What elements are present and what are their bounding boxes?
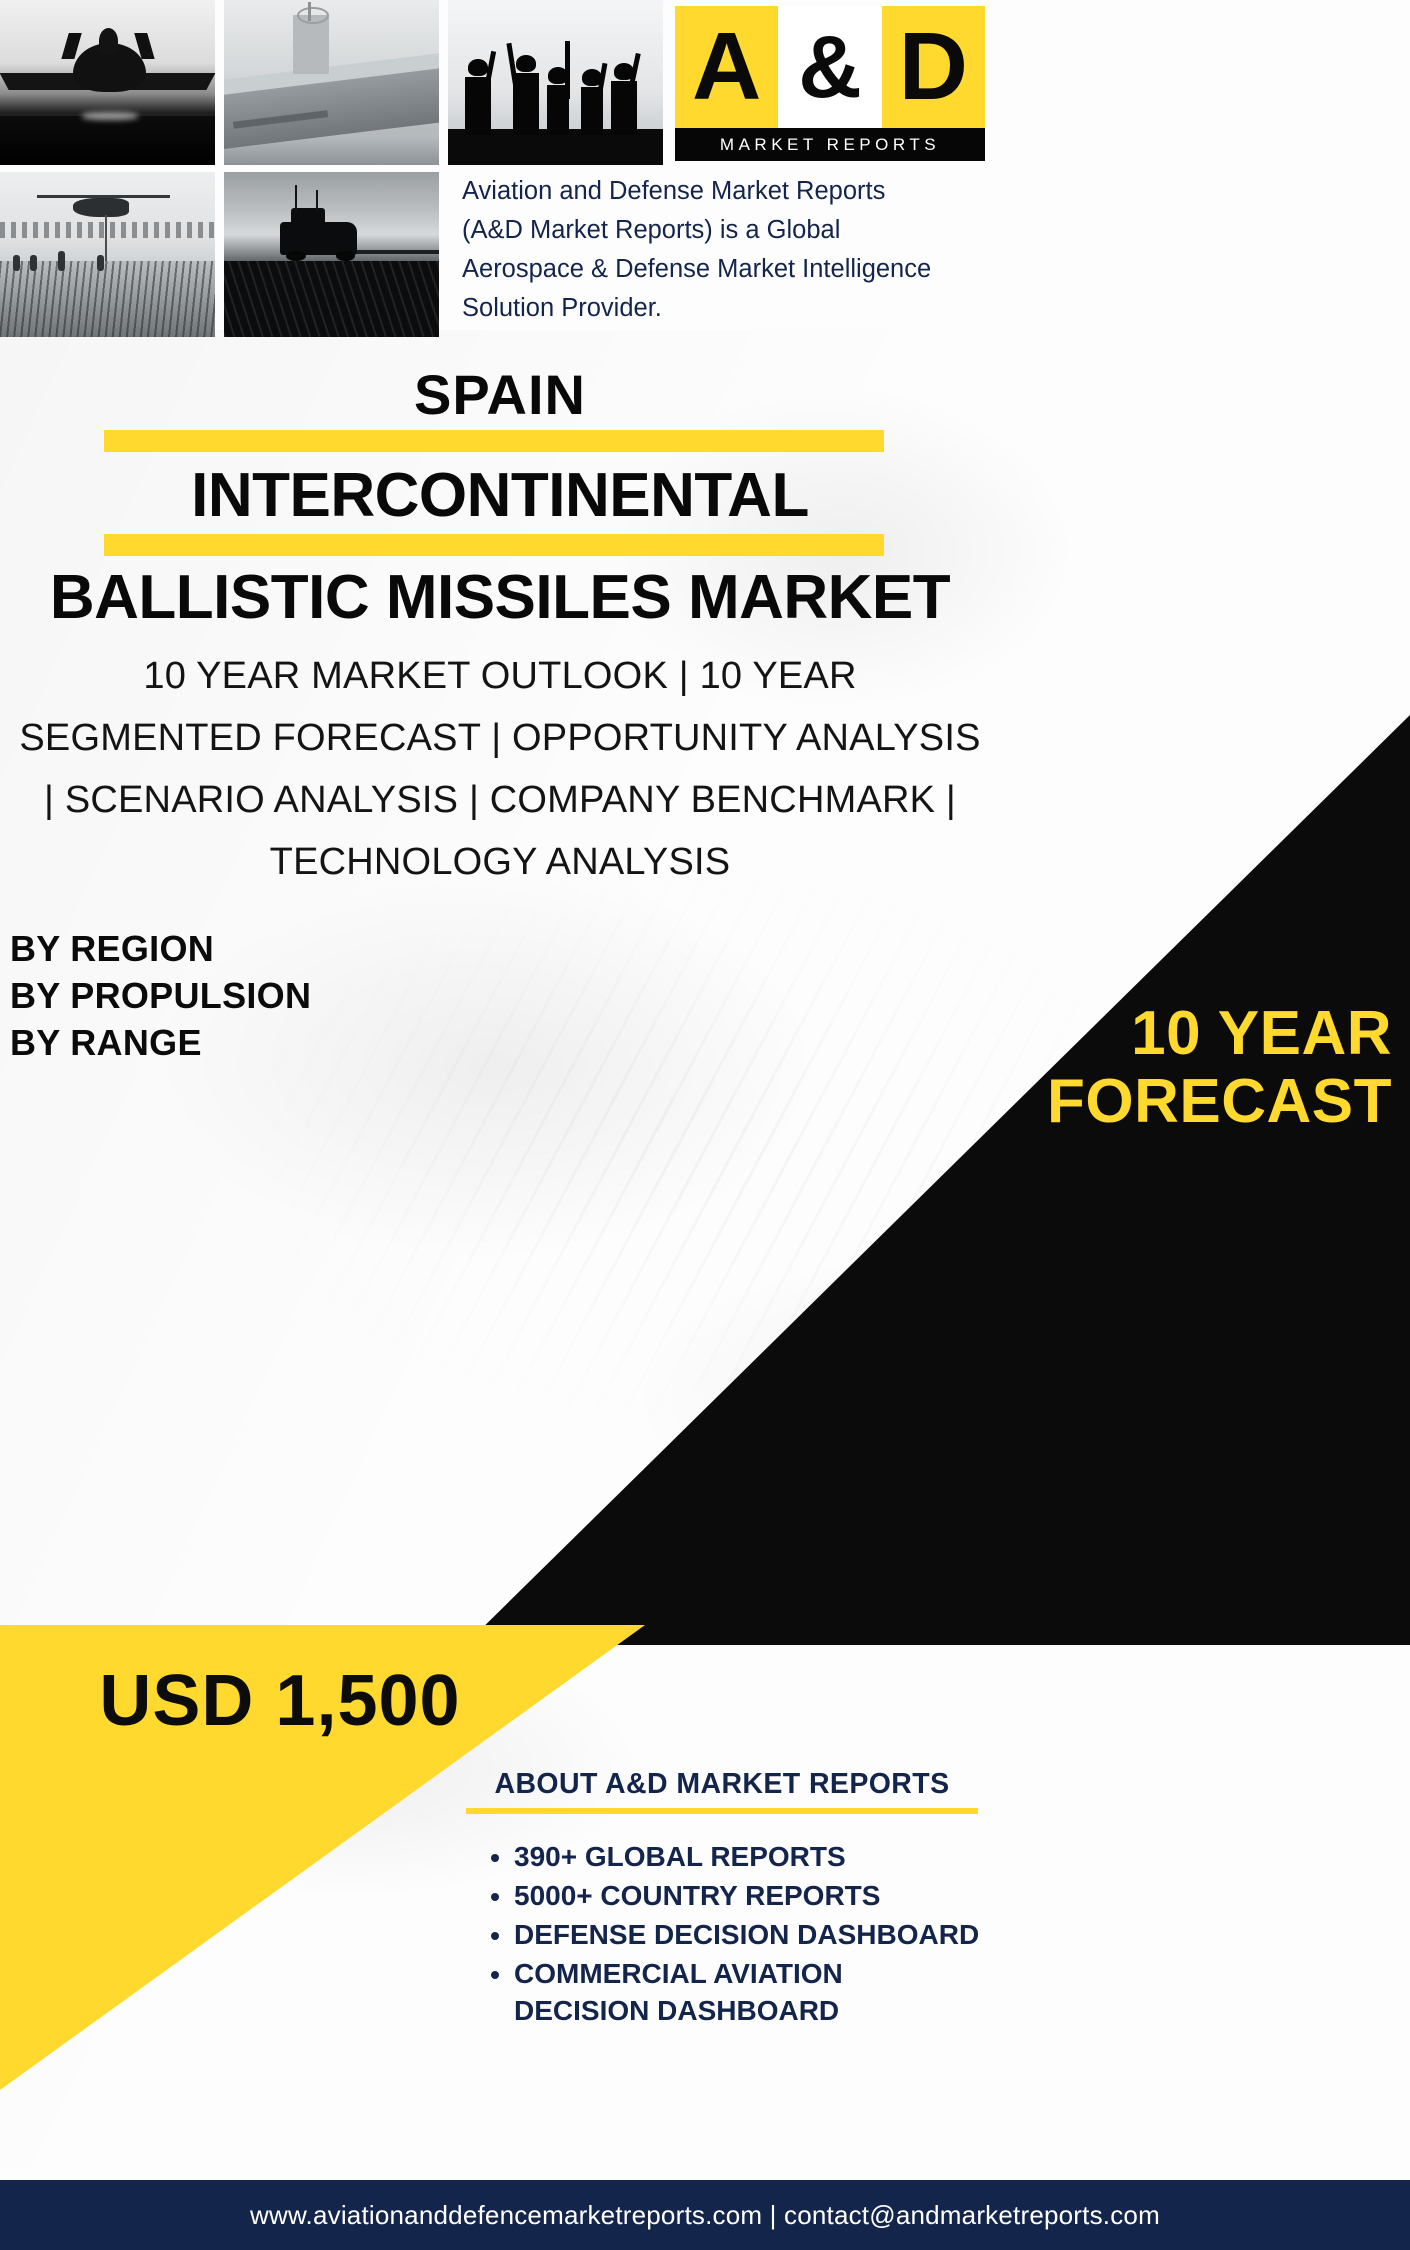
title-rule-bottom — [104, 534, 884, 556]
photo-armored-vehicle-at-dusk — [224, 172, 439, 337]
logo-letter-a: A — [675, 6, 778, 128]
photo-aircraft-carrier — [224, 0, 439, 165]
company-intro-text: Aviation and Defense Market Reports (A&D… — [462, 172, 984, 328]
intro-line-3: Aerospace & Defense Market Intelligence — [462, 250, 984, 289]
forecast-badge: 10 YEAR FORECAST — [872, 1000, 1392, 1136]
brand-logo: A & D MARKET REPORTS — [675, 0, 985, 165]
poster-page: A & D MARKET REPORTS Aviation and Defens… — [0, 0, 1410, 2250]
segment-by-region: BY REGION — [10, 925, 311, 972]
about-heading: ABOUT A&D MARKET REPORTS — [462, 1768, 982, 1801]
price-label: USD 1,500 — [0, 1660, 560, 1742]
photo-soldiers-silhouette — [448, 0, 663, 165]
logo-tagline-bar: MARKET REPORTS — [675, 128, 985, 161]
segment-by-range: BY RANGE — [10, 1019, 311, 1066]
photo-fighter-jet-on-carrier-deck — [0, 0, 215, 165]
header-photo-row-bottom — [0, 172, 439, 337]
page-title-line-1: INTERCONTINENTAL — [0, 460, 1000, 531]
intro-line-1: Aviation and Defense Market Reports — [462, 172, 984, 211]
about-bullet-commercial-aviation-dashboard: COMMERCIAL AVIATION DECISION DASHBOARD — [514, 1955, 982, 2029]
about-bullet-defense-dashboard: DEFENSE DECISION DASHBOARD — [514, 1916, 982, 1953]
logo-tagline: MARKET REPORTS — [720, 135, 940, 155]
segment-by-propulsion: BY PROPULSION — [10, 972, 311, 1019]
header-photo-row-top — [0, 0, 663, 165]
intro-line-2: (A&D Market Reports) is a Global — [462, 211, 984, 250]
logo-letter-d: D — [882, 6, 985, 128]
report-scope-subtitle: 10 YEAR MARKET OUTLOOK | 10 YEAR SEGMENT… — [18, 645, 982, 893]
footer-contact-bar: www.aviationanddefencemarketreports.com … — [0, 2180, 1410, 2250]
forecast-badge-line-2: FORECAST — [872, 1068, 1392, 1136]
logo-letter-tiles: A & D — [675, 6, 985, 128]
page-title-line-2: BALLISTIC MISSILES MARKET — [0, 562, 1000, 633]
title-rule-top — [104, 430, 884, 452]
about-bullet-list: 390+ GLOBAL REPORTS 5000+ COUNTRY REPORT… — [462, 1838, 982, 2029]
logo-ampersand: & — [778, 6, 881, 128]
page-title-country: SPAIN — [0, 362, 1000, 427]
forecast-badge-line-1: 10 YEAR — [872, 1000, 1392, 1068]
about-bullet-country-reports: 5000+ COUNTRY REPORTS — [514, 1877, 982, 1914]
photo-helicopter-fast-rope — [0, 172, 215, 337]
about-section: ABOUT A&D MARKET REPORTS 390+ GLOBAL REP… — [462, 1768, 982, 2031]
segmentation-list: BY REGION BY PROPULSION BY RANGE — [10, 925, 311, 1066]
about-heading-underline — [466, 1808, 978, 1814]
footer-contact-text: www.aviationanddefencemarketreports.com … — [250, 2200, 1160, 2231]
about-bullet-global-reports: 390+ GLOBAL REPORTS — [514, 1838, 982, 1875]
intro-line-4: Solution Provider. — [462, 289, 984, 328]
